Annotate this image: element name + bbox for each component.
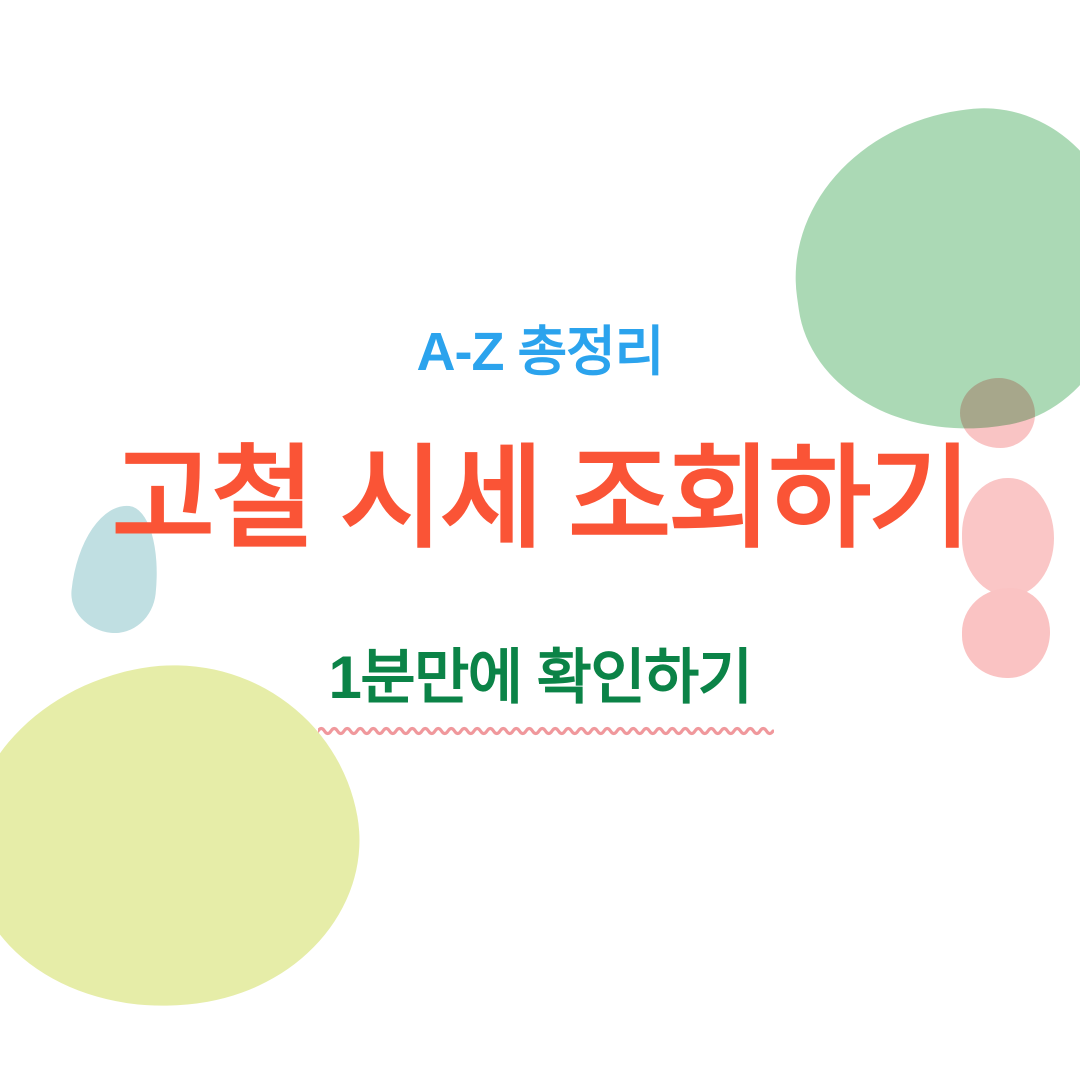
subline-container: 1분만에 확인하기 <box>0 648 1080 708</box>
thumbnail-canvas: A-Z 총정리 고철 시세 조회하기 1분만에 확인하기 <box>0 0 1080 1080</box>
wave-underline-icon <box>318 722 774 740</box>
headline-text: 고철 시세 조회하기 <box>0 440 1080 558</box>
subline-text: 1분만에 확인하기 <box>329 648 752 708</box>
text-layer: A-Z 총정리 고철 시세 조회하기 1분만에 확인하기 <box>0 0 1080 1080</box>
eyebrow-text: A-Z 총정리 <box>0 325 1080 379</box>
